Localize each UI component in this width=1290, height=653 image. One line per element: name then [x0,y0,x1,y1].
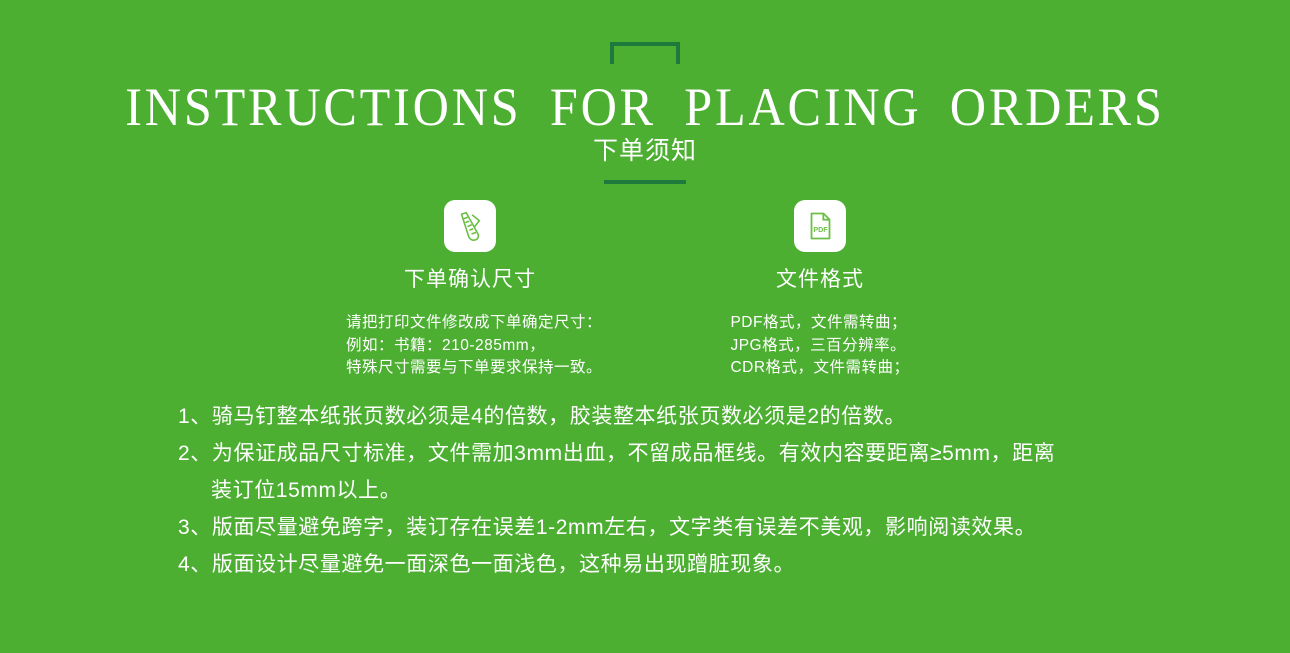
feature-size-confirmation: 下单确认尺寸 请把打印文件修改成下单确定尺寸： 例如：书籍：210-285mm，… [295,200,645,380]
notes-list: 1、骑马钉整本纸张页数必须是4的倍数，胶装整本纸张页数必须是2的倍数。 2、为保… [178,398,1138,583]
feature-columns: 下单确认尺寸 请把打印文件修改成下单确定尺寸： 例如：书籍：210-285mm，… [0,200,1290,380]
feature-line: 特殊尺寸需要与下单要求保持一致。 [346,357,602,380]
page-title-chinese: 下单须知 [0,134,1290,168]
feature-line: 例如：书籍：210-285mm， [346,335,602,358]
feature-description: 请把打印文件修改成下单确定尺寸： 例如：书籍：210-285mm， 特殊尺寸需要… [346,312,602,380]
note-text: 1、骑马钉整本纸张页数必须是4的倍数，胶装整本纸张页数必须是2的倍数。 [178,405,906,428]
top-bracket-ornament [610,42,680,64]
note-text-continuation: 装订位15mm以上。 [178,472,1138,509]
note-item: 1、骑马钉整本纸张页数必须是4的倍数，胶装整本纸张页数必须是2的倍数。 [178,398,1138,435]
feature-line: 请把打印文件修改成下单确定尺寸： [346,312,602,335]
note-text: 4、版面设计尽量避免一面深色一面浅色，这种易出现蹭脏现象。 [178,553,795,576]
instructions-page: INSTRUCTIONS FOR PLACING ORDERS 下单须知 [0,0,1290,653]
feature-file-format: PDF 文件格式 PDF格式，文件需转曲； JPG格式，三百分辨率。 CDR格式… [645,200,995,380]
note-item: 2、为保证成品尺寸标准，文件需加3mm出血，不留成品框线。有效内容要距离≥5mm… [178,435,1138,509]
note-text: 3、版面尽量避免跨字，装订存在误差1-2mm左右，文字类有误差不美观，影响阅读效… [178,516,1036,539]
ruler-icon [444,200,496,252]
feature-line: PDF格式，文件需转曲； [730,312,909,335]
feature-description: PDF格式，文件需转曲； JPG格式，三百分辨率。 CDR格式，文件需转曲； [730,312,909,380]
feature-line: CDR格式，文件需转曲； [730,357,909,380]
pdf-file-icon: PDF [794,200,846,252]
feature-line: JPG格式，三百分辨率。 [730,335,909,358]
feature-label: 下单确认尺寸 [295,266,645,294]
title-divider-rule [604,180,686,184]
page-title-english: INSTRUCTIONS FOR PLACING ORDERS [45,76,1245,138]
feature-label: 文件格式 [645,266,995,294]
pdf-icon-text: PDF [813,225,828,234]
note-item: 4、版面设计尽量避免一面深色一面浅色，这种易出现蹭脏现象。 [178,546,1138,583]
note-text: 2、为保证成品尺寸标准，文件需加3mm出血，不留成品框线。有效内容要距离≥5mm… [178,442,1055,465]
note-item: 3、版面尽量避免跨字，装订存在误差1-2mm左右，文字类有误差不美观，影响阅读效… [178,509,1138,546]
